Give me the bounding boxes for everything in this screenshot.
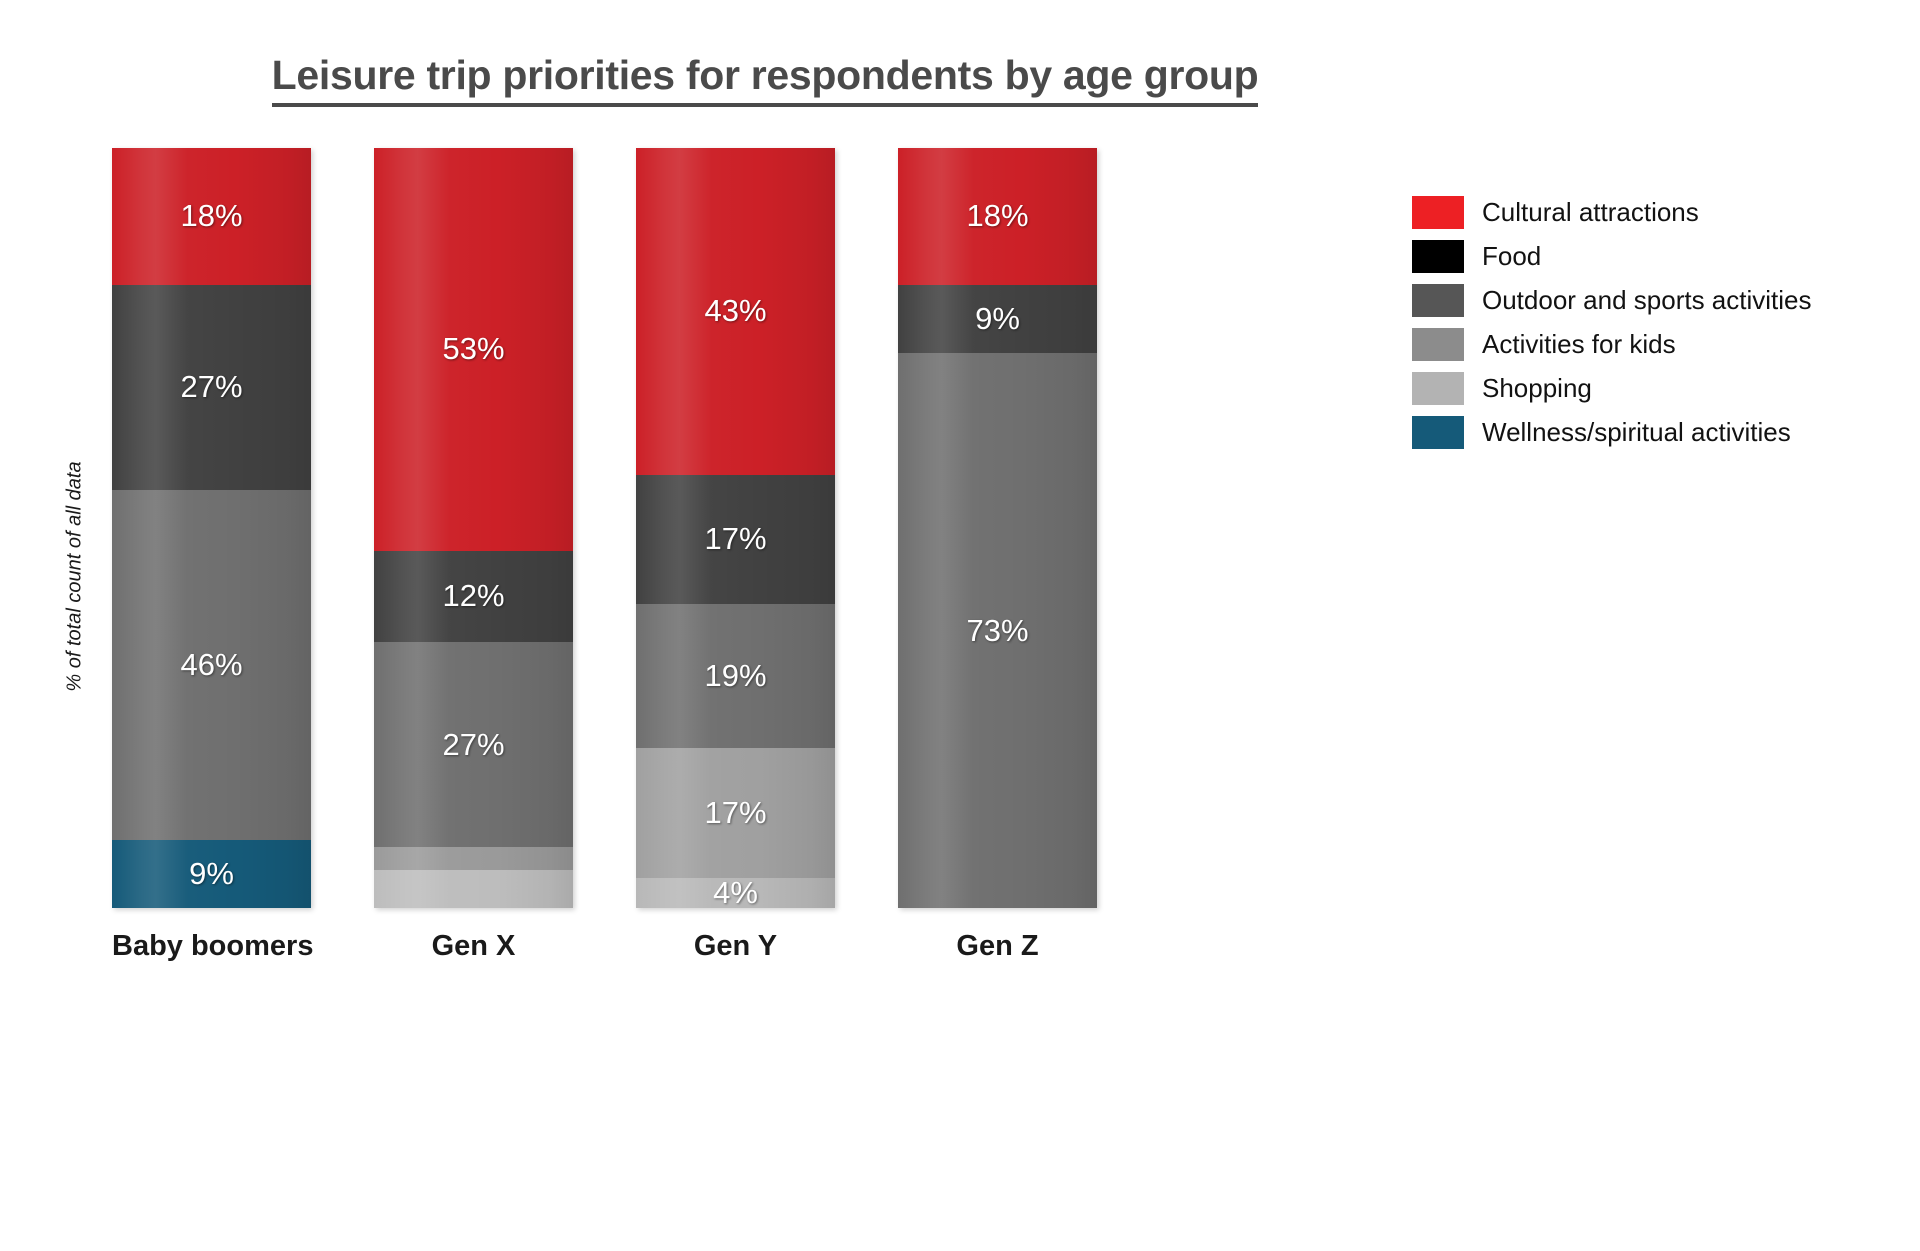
legend-swatch-icon	[1412, 196, 1464, 229]
legend-item-outdoor-and-sports[interactable]: Outdoor and sports activities	[1412, 278, 1892, 322]
bar-segment[interactable]: 73%	[898, 353, 1097, 908]
legend-item-label: Shopping	[1482, 375, 1592, 401]
legend-swatch-icon	[1412, 416, 1464, 449]
bar-stack: 73%9%18%	[898, 148, 1097, 908]
bar-segment[interactable]	[374, 847, 573, 870]
bar-segment-value-label: 17%	[704, 521, 766, 557]
legend-item-label: Wellness/spiritual activities	[1482, 419, 1791, 445]
legend-swatch-icon	[1412, 372, 1464, 405]
x-axis-category-label: Gen Y	[636, 930, 835, 963]
legend-item-label: Outdoor and sports activities	[1482, 287, 1812, 313]
x-axis-category-label: Gen X	[374, 930, 573, 963]
bar-stack: 4%17%19%17%43%	[636, 148, 835, 908]
legend-item-label: Food	[1482, 243, 1541, 269]
bar-segment-value-label: 12%	[442, 578, 504, 614]
bar-segment[interactable]: 43%	[636, 148, 835, 475]
bar-segment[interactable]: 9%	[112, 840, 311, 908]
bar-segment-value-label: 17%	[704, 795, 766, 831]
bar-segment[interactable]: 46%	[112, 490, 311, 840]
legend-item-label: Activities for kids	[1482, 331, 1676, 357]
bar-segment-value-label: 53%	[442, 331, 504, 367]
bar-segment[interactable]: 4%	[636, 878, 835, 908]
bar-segment[interactable]: 27%	[374, 642, 573, 847]
bar-segment-value-label: 18%	[966, 198, 1028, 234]
bar-segment[interactable]: 19%	[636, 604, 835, 748]
bar-segment[interactable]: 17%	[636, 748, 835, 877]
bar-column-gen-y[interactable]: 4%17%19%17%43%	[636, 148, 835, 908]
legend-item-food[interactable]: Food	[1412, 234, 1892, 278]
y-axis-label: % of total count of all data	[64, 447, 87, 707]
bar-segment[interactable]: 12%	[374, 551, 573, 642]
x-axis-category-label: Gen Z	[898, 930, 1097, 963]
bar-segment-value-label: 46%	[180, 647, 242, 683]
legend-item-wellness-spiritual[interactable]: Wellness/spiritual activities	[1412, 410, 1892, 454]
plot-area: 9%46%27%18%27%12%53%4%17%19%17%43%73%9%1…	[112, 148, 1112, 908]
bar-segment[interactable]: 18%	[112, 148, 311, 285]
bar-segment-value-label: 27%	[180, 369, 242, 405]
bar-segment-value-label: 73%	[966, 613, 1028, 649]
bar-column-baby-boomers[interactable]: 9%46%27%18%	[112, 148, 311, 908]
legend-swatch-icon	[1412, 284, 1464, 317]
bar-segment[interactable]: 17%	[636, 475, 835, 604]
bar-column-gen-z[interactable]: 73%9%18%	[898, 148, 1097, 908]
legend-swatch-icon	[1412, 328, 1464, 361]
bar-segment-value-label: 19%	[704, 658, 766, 694]
legend-item-label: Cultural attractions	[1482, 199, 1699, 225]
chart-container: Leisure trip priorities for respondents …	[0, 0, 1920, 1251]
bar-segment[interactable]: 18%	[898, 148, 1097, 285]
legend-item-shopping[interactable]: Shopping	[1412, 366, 1892, 410]
chart-legend: Cultural attractionsFoodOutdoor and spor…	[1412, 190, 1892, 454]
legend-item-cultural-attractions[interactable]: Cultural attractions	[1412, 190, 1892, 234]
page-title: Leisure trip priorities for respondents …	[0, 52, 1530, 107]
legend-item-activities-for-kids[interactable]: Activities for kids	[1412, 322, 1892, 366]
bar-segment[interactable]: 53%	[374, 148, 573, 551]
bar-segment[interactable]: 27%	[112, 285, 311, 490]
bar-segment[interactable]: 9%	[898, 285, 1097, 353]
bar-segment-value-label: 4%	[713, 878, 758, 908]
bar-stack: 27%12%53%	[374, 148, 573, 908]
legend-swatch-icon	[1412, 240, 1464, 273]
bar-stack: 9%46%27%18%	[112, 148, 311, 908]
bar-segment-value-label: 27%	[442, 727, 504, 763]
chart-title-text: Leisure trip priorities for respondents …	[272, 52, 1259, 107]
bar-column-gen-x[interactable]: 27%12%53%	[374, 148, 573, 908]
bar-segment-value-label: 43%	[704, 293, 766, 329]
bar-segment[interactable]	[374, 870, 573, 908]
bar-segment-value-label: 18%	[180, 198, 242, 234]
bar-segment-value-label: 9%	[189, 856, 234, 892]
x-axis-category-label: Baby boomers	[112, 930, 311, 963]
bar-segment-value-label: 9%	[975, 301, 1020, 337]
